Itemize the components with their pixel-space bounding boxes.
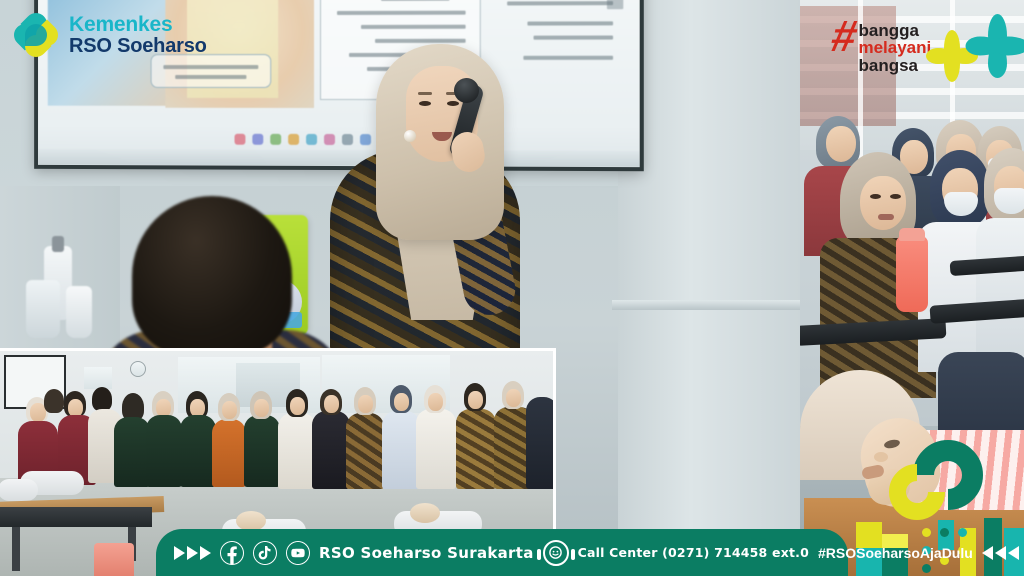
hashtag-icon: # [828, 20, 857, 54]
participant-face [254, 399, 269, 417]
participant-face [468, 391, 483, 409]
waste-bin [94, 543, 134, 576]
wall-clock [130, 361, 146, 377]
sanitizer-bottle [66, 286, 92, 338]
participant-orange-top [212, 419, 246, 487]
attendee-eye [870, 194, 881, 199]
tiktok-icon[interactable] [253, 541, 277, 565]
promo-graphic-canvas: Kemenkes RSO Soeharso # bangga melayani … [0, 0, 1024, 576]
kemenkes-logo: Kemenkes RSO Soeharso [14, 12, 207, 58]
mannequin-nose [874, 452, 888, 462]
water-bottle-cap [899, 228, 925, 241]
slide-taskbar [38, 129, 640, 151]
participant-face [428, 393, 443, 411]
attendee-face [826, 126, 856, 162]
table-frame [0, 507, 152, 527]
participant-batik [346, 413, 384, 489]
sanitizer-bottle [26, 280, 60, 338]
participant-batik [456, 409, 496, 489]
attendee-face-front [860, 176, 906, 230]
participant-white-top [278, 413, 316, 489]
facebook-icon[interactable] [220, 541, 244, 565]
kemenkes-wordmark: Kemenkes [69, 14, 207, 35]
participant-face [324, 395, 339, 413]
kemenkes-unit-name: RSO Soeharso [69, 36, 207, 56]
participant-face [506, 389, 521, 407]
mannequin-head [410, 503, 440, 523]
slide-text-card-2 [493, 0, 644, 100]
play-arrows-left-icon [982, 546, 1019, 560]
bangga-line-3: bangsa [858, 57, 931, 74]
speaker-brow [418, 92, 432, 95]
participant-face [394, 393, 409, 411]
participant-white-top [416, 409, 456, 489]
deco-dot [922, 564, 931, 573]
wall-right-section [618, 0, 800, 576]
sanitizer-pump [52, 236, 64, 252]
wall-poster [84, 367, 112, 389]
wall-shelf [612, 300, 800, 310]
cpr-mannequin [0, 479, 38, 501]
social-handle: RSO Soeharso Surakarta [319, 544, 534, 562]
youtube-icon[interactable] [286, 541, 310, 565]
speaker-eye [447, 101, 459, 106]
teal-yellow-ring-icon [913, 440, 983, 510]
slide-bottom-bar [38, 149, 640, 167]
slide-name-box [151, 54, 272, 88]
participant-light-top [382, 411, 420, 489]
foreground-person-head [132, 196, 292, 356]
water-bottle [896, 236, 928, 312]
deco-dot [940, 528, 949, 537]
deco-dot [922, 528, 931, 537]
participant-dark-suit [526, 397, 556, 489]
participant-face [222, 401, 237, 419]
speaker-eye [419, 101, 431, 106]
mannequin-head [236, 511, 266, 531]
participant-face [358, 395, 373, 413]
call-center-text: Call Center (0271) 714458 ext.0 [578, 545, 809, 560]
participant-dark-top [312, 411, 350, 489]
hashtag-text: #RSOSoeharsoAjaDulu [818, 545, 973, 561]
attendee-eye [890, 194, 901, 199]
play-arrows-right-icon [174, 546, 211, 560]
participant-green-jacket [146, 415, 182, 487]
participant-face [290, 397, 305, 415]
speaker-brooch [404, 130, 416, 142]
participant-green-jacket [180, 415, 216, 487]
kemenkes-clover-icon [14, 12, 60, 58]
bangga-line-2: melayani [858, 39, 931, 56]
participant-hair [92, 387, 112, 411]
deco-dot [958, 528, 967, 537]
teal-flower-icon [968, 18, 1024, 76]
call-center-icon [543, 540, 569, 566]
bangga-line-1: bangga [858, 22, 931, 39]
social-media-banner: RSO Soeharso Surakarta Call Center (0271… [156, 529, 848, 576]
participant-green-jacket [244, 415, 280, 487]
participant-hair [44, 389, 64, 413]
attendee-mouth [878, 214, 894, 220]
participant-green-jacket [114, 417, 150, 487]
bangga-melayani-bangsa-logo: # bangga melayani bangsa [832, 20, 931, 74]
